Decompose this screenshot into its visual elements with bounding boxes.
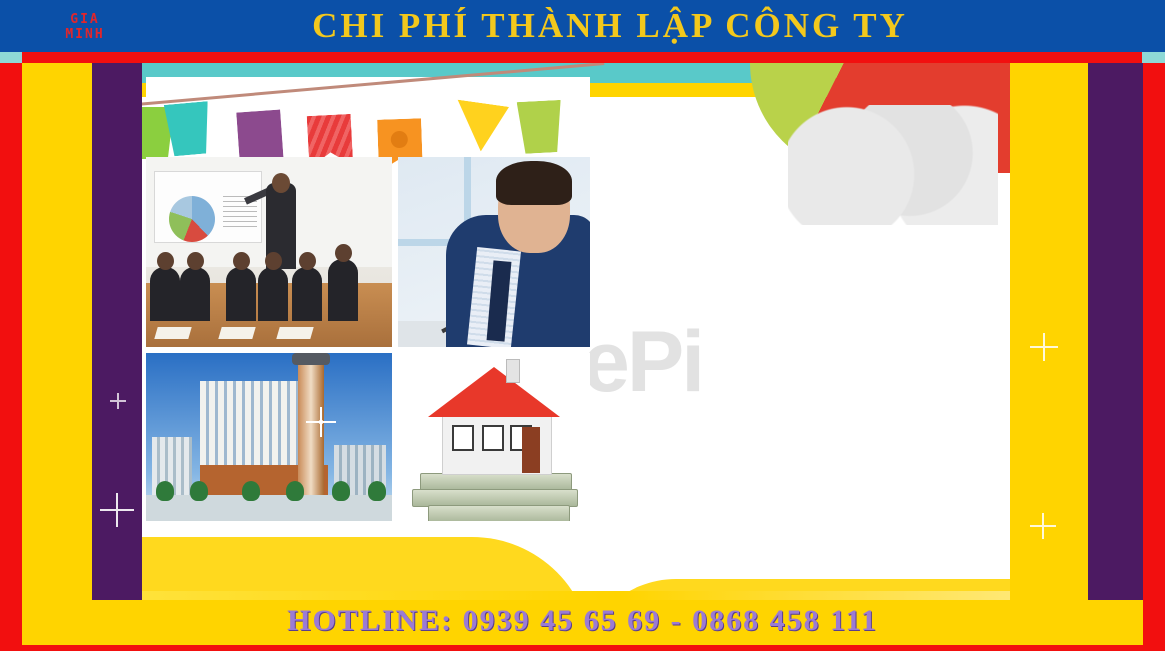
page-title: CHI PHÍ THÀNH LẬP CÔNG TY [160,0,1060,52]
sparkle-icon [100,493,134,527]
photo-collage [146,77,590,521]
watermark-text: ePi [582,313,702,412]
frame-border-left [0,63,22,651]
right-yellow-stripe [1010,63,1088,623]
photo-business-meeting [146,157,392,347]
brand-logo: GIA MINH [30,8,140,48]
header-accent-bar [22,52,1142,63]
right-purple-stripe [1088,63,1143,623]
logo-line-1: GIA [70,13,99,28]
photo-office-building [146,353,392,521]
bunting-flag-olive [517,100,564,154]
bunting-flag-teal [164,101,212,157]
cloud-decoration [788,105,998,225]
frame-border-right [1143,63,1165,651]
left-purple-stripe [92,63,142,623]
poster-root: GIA MINH CHI PHÍ THÀNH LẬP CÔNG TY ePi [0,0,1165,651]
sparkle-icon [110,393,126,409]
logo-line-2: MINH [65,28,104,43]
page-title-text: CHI PHÍ THÀNH LẬP CÔNG TY [312,6,908,46]
sparkle-icon [1030,513,1056,539]
photo-house-on-money [398,353,590,521]
sparkle-icon [1030,333,1058,361]
hotline-text: HOTLINE: 0939 45 65 69 - 0868 458 111 [287,604,878,638]
left-yellow-stripe [22,63,92,623]
bunting-flag-yellow [451,100,509,155]
main-content-panel: ePi [142,63,1010,623]
hotline-bar: HOTLINE: 0939 45 65 69 - 0868 458 111 [22,600,1143,642]
photo-businessman-signing [398,157,590,347]
